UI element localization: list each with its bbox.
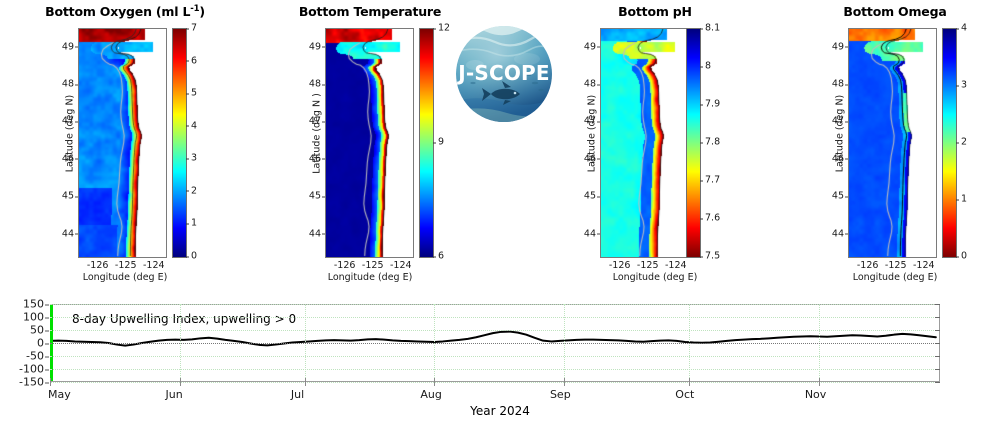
chart-gridline-horizontal — [50, 382, 940, 383]
colorbar-ph — [686, 28, 701, 258]
chart-right-tick — [935, 330, 940, 331]
colorbar-gradient-omega — [943, 29, 956, 257]
chart-right-tick — [935, 369, 940, 370]
map-panel-ph: Bottom pH 494847464544 Latitude (deg N) … — [540, 0, 770, 290]
map-image-omega[interactable] — [848, 28, 937, 258]
map-panel-omega: Bottom Omega 494847464544 Latitude (deg … — [790, 0, 1000, 290]
longitude-tick: -126 — [857, 260, 879, 271]
panel-title-oxygen: Bottom Oxygen (ml L-1) — [0, 4, 250, 19]
chart-x-tick-label: Jun — [166, 388, 183, 401]
latitude-tick: 44 — [832, 228, 844, 239]
chart-gridline-horizontal — [50, 356, 940, 357]
colorbar-tick: 0 — [956, 251, 967, 262]
axis-label-latitude-oxygen: Latitude (deg N) — [65, 74, 76, 194]
longitude-axis-oxygen: -126-125-124 — [78, 260, 165, 272]
panel-title-ph: Bottom pH — [540, 4, 770, 19]
chart-gridline-horizontal — [50, 304, 940, 305]
map-image-ph[interactable] — [600, 28, 689, 258]
chart-y-tick-label: 100 — [23, 311, 44, 324]
chart-x-tick-label: Nov — [805, 388, 826, 401]
axis-label-latitude-temperature: Latitude (deg N ) — [312, 74, 323, 194]
colorbar-tick: 6 — [186, 55, 197, 66]
colorbar-gradient-ph — [687, 29, 700, 257]
colorbar-tick: 7.7 — [700, 175, 720, 186]
longitude-tick: -124 — [143, 260, 165, 271]
colorbar-oxygen — [172, 28, 187, 258]
colorbar-temperature — [419, 28, 434, 258]
chart-zero-line — [50, 343, 940, 344]
longitude-tick: -125 — [885, 260, 907, 271]
latitude-tick: 44 — [62, 228, 74, 239]
colorbar-tick: 1 — [186, 218, 197, 229]
map-canvas-omega — [849, 29, 936, 257]
map-canvas-ph — [601, 29, 688, 257]
j-scope-logo: J-SCOPE — [455, 25, 553, 123]
j-scope-logo-graphic: J-SCOPE — [455, 25, 553, 123]
chart-gridline-horizontal — [50, 330, 940, 331]
chart-x-axis-title: Year 2024 — [0, 404, 1000, 418]
panel-title-temperature: Bottom Temperature — [255, 4, 485, 19]
panel-title-omega: Bottom Omega — [790, 4, 1000, 19]
chart-x-tick — [819, 378, 820, 386]
colorbar-tick: 9 — [433, 137, 444, 148]
axis-label-longitude-temperature: Longitude (deg E) — [255, 272, 485, 283]
longitude-axis-omega: -126-125-124 — [848, 260, 935, 272]
longitude-tick: -126 — [334, 260, 356, 271]
colorbar-tick: 3 — [956, 80, 967, 91]
map-panel-temperature: Bottom Temperature 494847464544 Latitude… — [255, 0, 485, 290]
chart-x-tick-label: Sep — [550, 388, 571, 401]
chart-gridline-horizontal — [50, 317, 940, 318]
axis-label-longitude-ph: Longitude (deg E) — [540, 272, 770, 283]
latitude-tick: 49 — [62, 41, 74, 52]
colorbar-gradient-oxygen — [173, 29, 186, 257]
longitude-tick: -124 — [913, 260, 935, 271]
chart-x-tick — [689, 378, 690, 386]
maps-row: Bottom Oxygen (ml L-1) 494847464544 Lati… — [0, 0, 1000, 290]
chart-right-tick — [935, 356, 940, 357]
axis-label-longitude-oxygen: Longitude (deg E) — [0, 272, 250, 283]
latitude-tick: 49 — [832, 41, 844, 52]
colorbar-gradient-temperature — [420, 29, 433, 257]
chart-x-tick-label: Jul — [291, 388, 304, 401]
chart-x-tick-label: May — [48, 388, 71, 401]
longitude-tick: -125 — [362, 260, 384, 271]
chart-y-tick-label: 0 — [37, 337, 44, 350]
chart-y-tick-label: 50 — [30, 324, 44, 337]
chart-x-tick — [564, 378, 565, 386]
chart-x-tick — [180, 378, 181, 386]
colorbar-tick: 7.9 — [700, 99, 720, 110]
chart-x-tick — [50, 378, 51, 386]
colorbar-ticks-ph: 8.187.97.87.77.67.5 — [700, 28, 746, 256]
chart-x-tick — [434, 378, 435, 386]
chart-x-tick-label: Oct — [675, 388, 694, 401]
latitude-tick: 49 — [309, 41, 321, 52]
chart-right-tick — [935, 304, 940, 305]
axis-label-longitude-omega: Longitude (deg E) — [790, 272, 1000, 283]
chart-right-tick — [935, 343, 940, 344]
longitude-tick: -124 — [390, 260, 412, 271]
colorbar-tick: 8 — [700, 61, 711, 72]
map-image-oxygen[interactable] — [78, 28, 167, 258]
colorbar-tick: 0 — [186, 251, 197, 262]
chart-x-tick-label: Aug — [420, 388, 441, 401]
colorbar-tick: 7.5 — [700, 251, 720, 262]
chart-y-tick-label: -50 — [26, 350, 44, 363]
colorbar-tick: 7.8 — [700, 137, 720, 148]
longitude-tick: -124 — [665, 260, 687, 271]
colorbar-tick: 6 — [433, 251, 444, 262]
longitude-axis-ph: -126-125-124 — [600, 260, 687, 272]
chart-right-tick — [935, 382, 940, 383]
j-scope-logo-text: J-SCOPE — [456, 61, 550, 85]
map-image-temperature[interactable] — [325, 28, 414, 258]
colorbar-tick: 3 — [186, 153, 197, 164]
longitude-tick: -126 — [87, 260, 109, 271]
chart-y-tick-label: 150 — [23, 298, 44, 311]
map-canvas-oxygen — [79, 29, 166, 257]
upwelling-index-chart[interactable]: 8-day Upwelling Index, upwelling > 0 — [50, 304, 940, 382]
longitude-axis-temperature: -126-125-124 — [325, 260, 412, 272]
colorbar-tick: 7.6 — [700, 213, 720, 224]
map-canvas-temperature — [326, 29, 413, 257]
colorbar-tick: 2 — [956, 137, 967, 148]
longitude-tick: -125 — [637, 260, 659, 271]
longitude-tick: -126 — [609, 260, 631, 271]
longitude-tick: -125 — [115, 260, 137, 271]
chart-annotation: 8-day Upwelling Index, upwelling > 0 — [72, 312, 296, 326]
colorbar-tick: 8.1 — [700, 23, 720, 34]
colorbar-tick: 1 — [956, 194, 967, 205]
latitude-tick: 44 — [584, 228, 596, 239]
colorbar-tick: 4 — [186, 120, 197, 131]
chart-y-axis-labels: 150100500-50-100-150 — [4, 304, 44, 382]
colorbar-ticks-omega: 43210 — [956, 28, 996, 256]
colorbar-tick: 5 — [186, 88, 197, 99]
chart-x-axis-labels: MayJunJulAugSepOctNov — [0, 384, 1000, 404]
colorbar-omega — [942, 28, 957, 258]
colorbar-ticks-oxygen: 76543210 — [186, 28, 226, 256]
axis-label-latitude-omega: Latitude (deg N) — [835, 74, 846, 194]
chart-gridline-horizontal — [50, 369, 940, 370]
chart-y-tick-label: -100 — [19, 363, 44, 376]
colorbar-tick: 4 — [956, 23, 967, 34]
colorbar-tick: 2 — [186, 185, 197, 196]
latitude-tick: 44 — [309, 228, 321, 239]
colorbar-tick: 12 — [433, 23, 450, 34]
latitude-tick: 49 — [584, 41, 596, 52]
chart-right-tick — [935, 317, 940, 318]
chart-x-tick — [305, 378, 306, 386]
axis-label-latitude-ph: Latitude (deg N) — [587, 74, 598, 194]
colorbar-tick: 7 — [186, 23, 197, 34]
map-panel-oxygen: Bottom Oxygen (ml L-1) 494847464544 Lati… — [0, 0, 250, 290]
